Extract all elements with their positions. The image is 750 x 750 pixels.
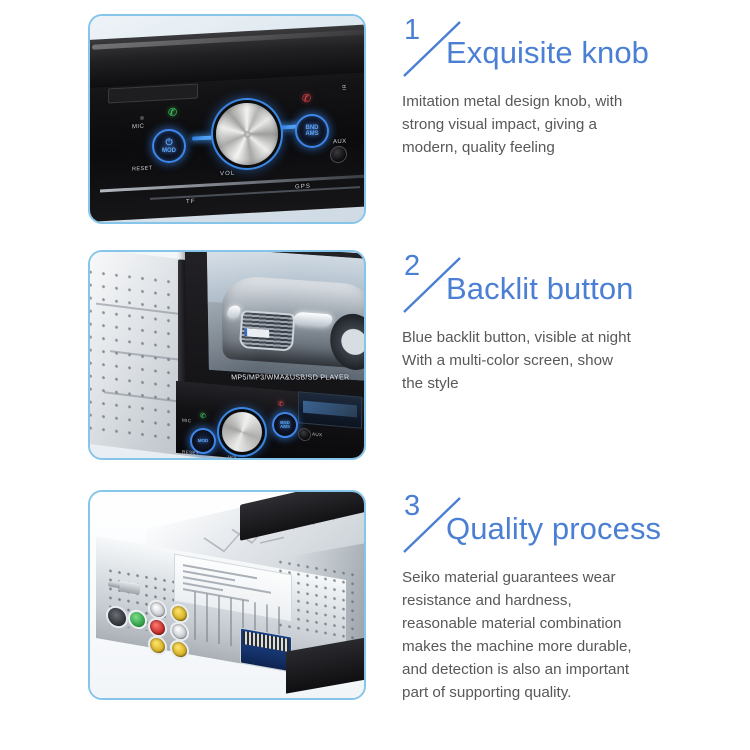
description-line: Seiko material guarantees wear [402, 566, 746, 589]
description-line: the style [402, 372, 746, 395]
feature-2-heading: 2 Backlit button [398, 250, 746, 326]
aux-label: AUX [333, 139, 347, 146]
aux-label: AUX [312, 432, 322, 438]
display-screen [207, 252, 364, 382]
mic-label: MIC [132, 124, 144, 131]
gps-label: GPS [295, 184, 311, 191]
vol-label: VOL [220, 171, 235, 178]
description-line: and detection is also an important [402, 658, 746, 681]
description-line: Imitation metal design knob, with [402, 90, 746, 113]
description-line: makes the machine more durable, [402, 635, 746, 658]
feature-2-title: Backlit button [446, 272, 634, 306]
ir-label: IR [342, 84, 348, 90]
aux-jack [298, 427, 311, 441]
car-stereo-faceplate-knob-photo: ⏻ MOD BND AMS ✆ ✆ MIC RESET VOL TF GPS A… [90, 16, 364, 222]
feature-2-photo-frame: MP5/MP3/WMA&USB/SD PLAYER MOD BND AMS ✆ … [88, 250, 366, 460]
ams-label: AMS [305, 131, 318, 137]
mod-button-label: MOD [198, 439, 209, 444]
description-line: part of supporting quality. [402, 681, 746, 704]
flip-out-screen-photo: MP5/MP3/WMA&USB/SD PLAYER MOD BND AMS ✆ … [90, 252, 364, 458]
flip-screen-bezel: MP5/MP3/WMA&USB/SD PLAYER [185, 252, 364, 403]
band-ams-button: BND AMS [295, 114, 329, 148]
description-line: resistance and hardness, [402, 589, 746, 612]
feature-3-text-column: 3 Quality process Seiko material guarant… [398, 490, 746, 705]
feature-block-3: 3 Quality process Seiko material guarant… [0, 490, 750, 702]
infographic-page: ⏻ MOD BND AMS ✆ ✆ MIC RESET VOL TF GPS A… [0, 0, 750, 750]
vol-label: VOL [228, 455, 238, 458]
feature-3-number: 3 [404, 492, 420, 521]
feature-3-heading: 3 Quality process [398, 490, 746, 566]
tf-label: TF [186, 199, 196, 206]
feature-2-number: 2 [404, 252, 420, 281]
player-format-label: MP5/MP3/WMA&USB/SD PLAYER [231, 372, 350, 381]
description-line: reasonable material combination [402, 612, 746, 635]
answer-call-icon: ✆ [200, 412, 206, 421]
feature-2-text-column: 2 Backlit button Blue backlit button, vi… [398, 250, 746, 395]
feature-3-title: Quality process [446, 512, 661, 546]
mod-power-button: ⏻ MOD [152, 129, 186, 163]
feature-1-title: Exquisite knob [446, 36, 649, 70]
volume-knob [222, 412, 262, 452]
feature-block-2: MP5/MP3/WMA&USB/SD PLAYER MOD BND AMS ✆ … [0, 250, 750, 462]
end-call-icon: ✆ [278, 400, 284, 409]
ams-label: AMS [280, 425, 290, 430]
feature-3-photo-frame [88, 490, 366, 700]
feature-1-description: Imitation metal design knob, with strong… [398, 90, 746, 159]
reset-label: RESET [132, 165, 152, 172]
feature-1-number: 1 [404, 16, 420, 45]
volume-knob [216, 103, 278, 165]
feature-1-text-column: 1 Exquisite knob Imitation metal design … [398, 14, 746, 159]
secondary-display [298, 391, 362, 429]
power-icon: ⏻ [165, 138, 172, 147]
chassis-rear-connectors-photo [90, 492, 364, 698]
end-call-icon: ✆ [302, 92, 311, 106]
screen-glare [207, 252, 364, 382]
feature-2-description: Blue backlit button, visible at night Wi… [398, 326, 746, 395]
feature-1-heading: 1 Exquisite knob [398, 14, 746, 90]
band-ams-button: BND AMS [272, 412, 298, 438]
feature-1-photo-frame: ⏻ MOD BND AMS ✆ ✆ MIC RESET VOL TF GPS A… [88, 14, 366, 224]
description-line: Blue backlit button, visible at night [402, 326, 746, 349]
feature-3-description: Seiko material guarantees wear resistanc… [398, 566, 746, 705]
feature-block-1: ⏻ MOD BND AMS ✆ ✆ MIC RESET VOL TF GPS A… [0, 14, 750, 226]
mic-label: MIC [182, 418, 191, 424]
description-line: strong visual impact, giving a [402, 113, 746, 136]
description-line: With a multi-color screen, show [402, 349, 746, 372]
mod-button-label: MOD [162, 148, 176, 154]
answer-call-icon: ✆ [168, 106, 177, 120]
description-line: modern, quality feeling [402, 136, 746, 159]
